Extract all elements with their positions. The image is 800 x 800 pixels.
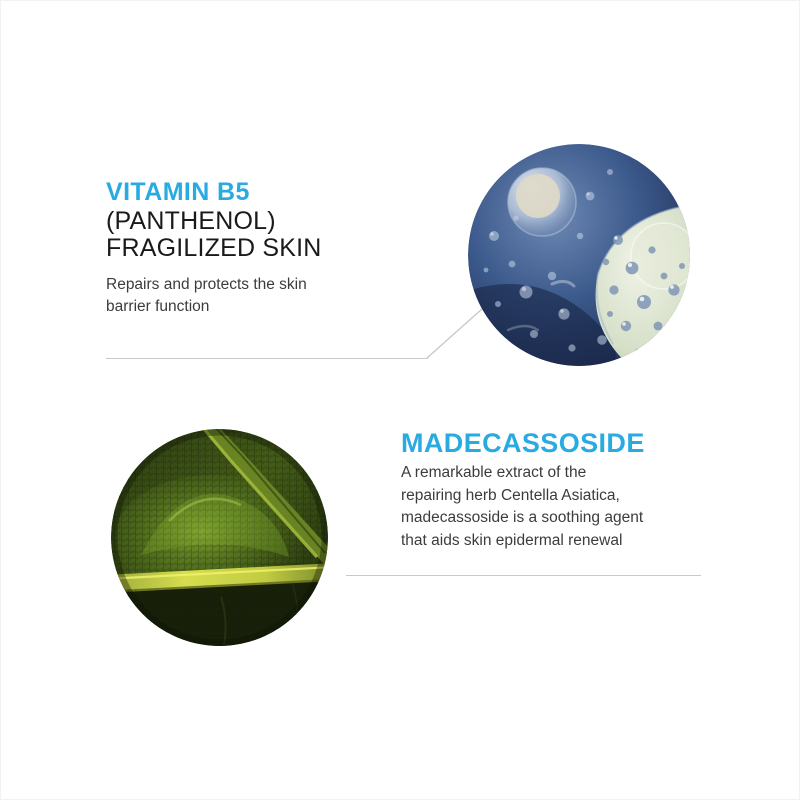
infographic-canvas: VITAMIN B5 (PANTHENOL) FRAGILIZED SKIN R… [0, 0, 800, 800]
ingredient-name-madecassoside: MADECASSOSIDE [401, 429, 706, 458]
connector-line-vitamin-b5 [106, 358, 428, 359]
connector-line-madecassoside [346, 575, 701, 576]
ingredient-block-vitamin-b5: VITAMIN B5 (PANTHENOL) FRAGILIZED SKIN R… [106, 179, 406, 319]
ingredient-block-madecassoside: MADECASSOSIDE A remarkable extract of th… [401, 429, 706, 552]
ingredient-image-vitamin-b5 [468, 144, 690, 366]
water-droplets-photo [468, 144, 690, 366]
ingredient-subtitle-vitamin-b5: (PANTHENOL) FRAGILIZED SKIN [106, 208, 406, 262]
ingredient-description-vitamin-b5: Repairs and protects the skin barrier fu… [106, 274, 406, 319]
green-leaf-photo [111, 429, 328, 646]
ingredient-name-vitamin-b5: VITAMIN B5 [106, 179, 406, 206]
ingredient-description-madecassoside: A remarkable extract of the repairing he… [401, 462, 706, 552]
ingredient-image-madecassoside [111, 429, 328, 646]
